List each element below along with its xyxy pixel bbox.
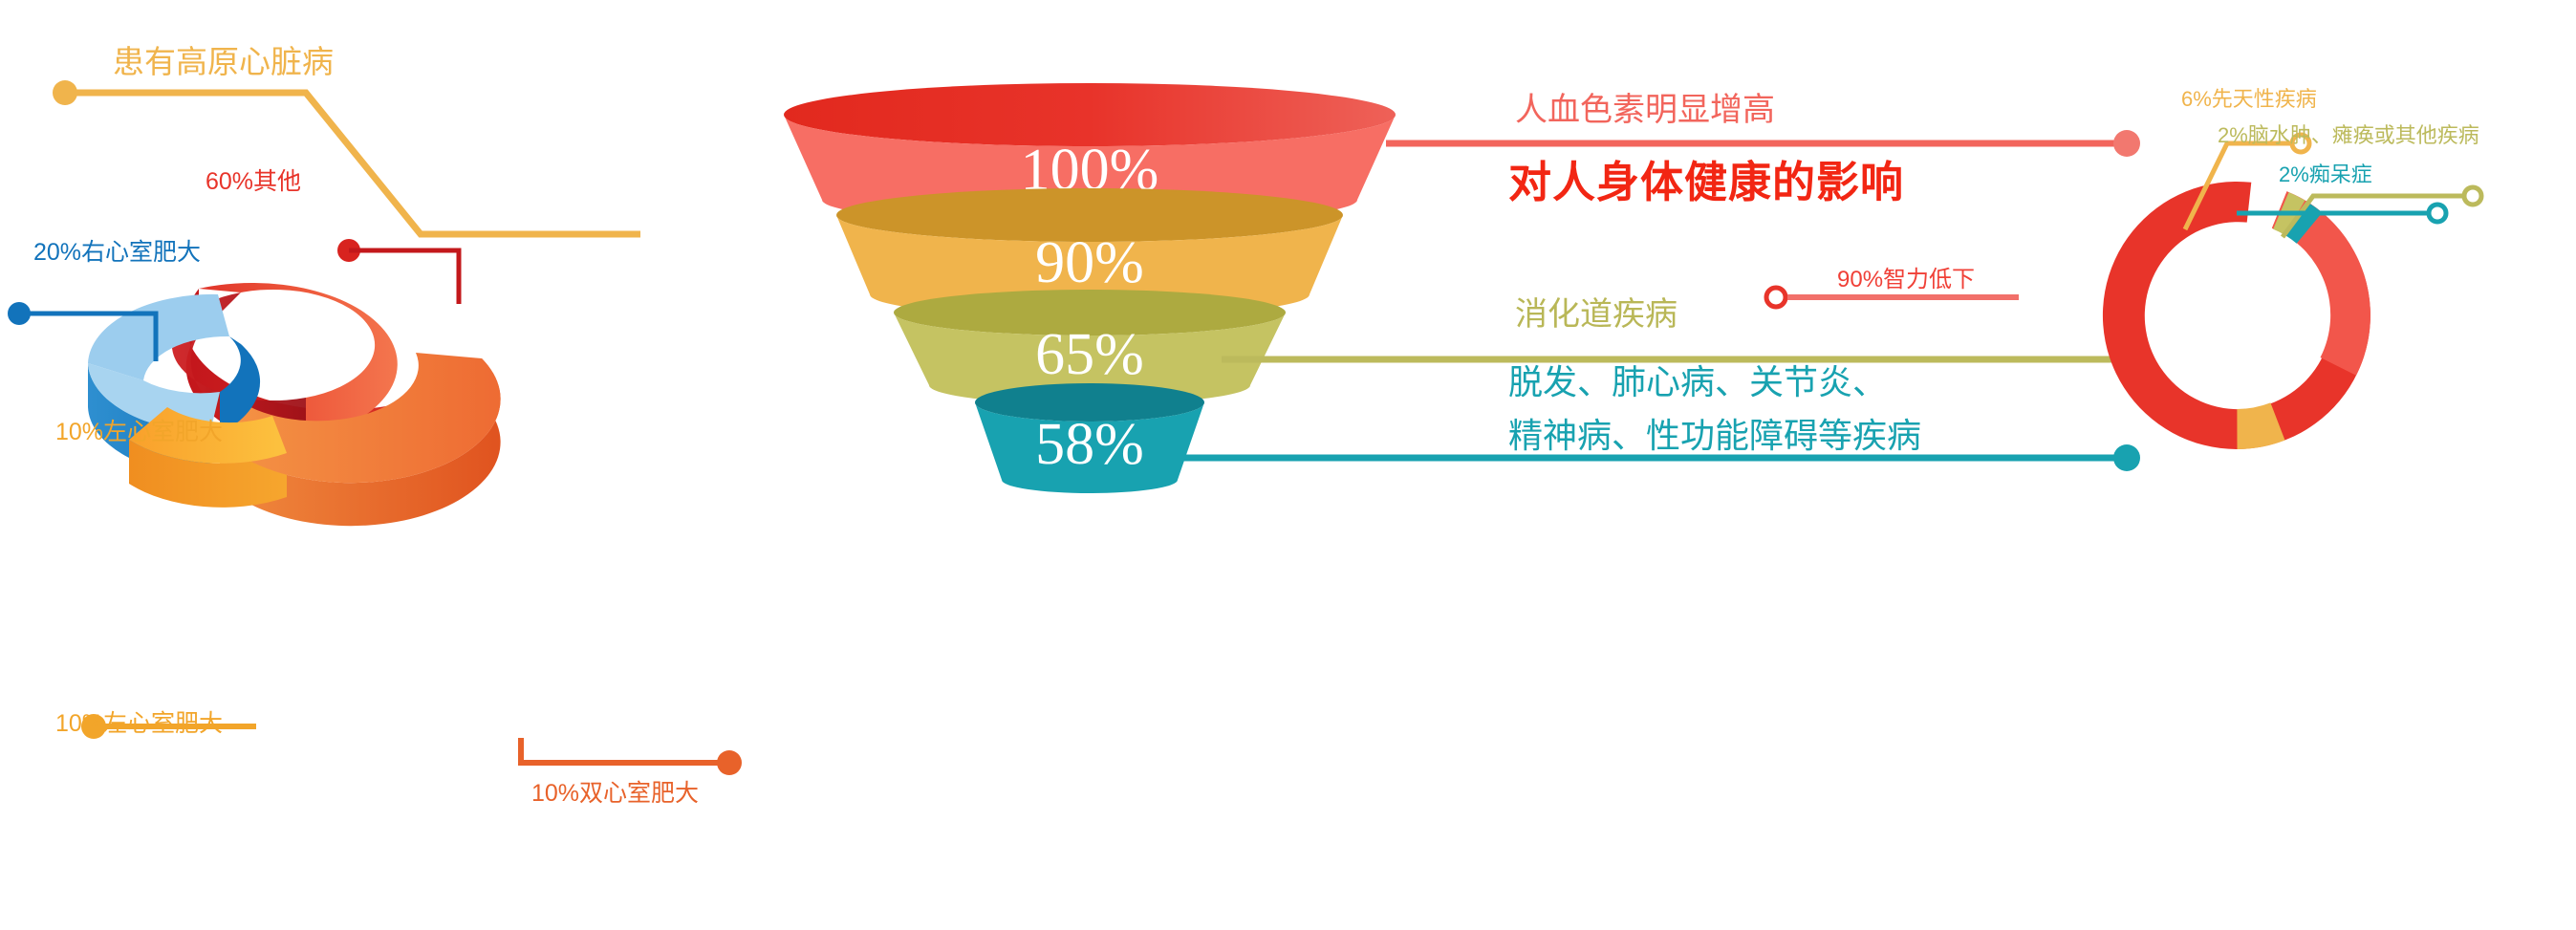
connector-dot-low-intelligence — [1766, 288, 1786, 307]
funnel-stage-90-value: 90% — [1035, 230, 1144, 295]
connector-funnel-58 — [1166, 435, 2151, 492]
funnel-stage-65-value: 65% — [1035, 322, 1144, 387]
funnel-stage-100-cap — [784, 83, 1396, 146]
connector-dot-dementia — [2429, 205, 2446, 222]
connector-dementia — [2218, 177, 2466, 244]
left-label-left-ventricle: 10%左心室肥大 — [55, 421, 223, 444]
infographic-canvas: 患有高原心脏病 — [0, 0, 2576, 930]
left-label-left-ventricle-text: 10%左心室肥大 — [55, 712, 223, 736]
funnel-heading: 对人身体健康的影响 — [1508, 161, 1904, 204]
connector-dot-edema — [2464, 187, 2481, 205]
connector-line-blue — [19, 314, 156, 361]
connector-line-orangered — [521, 738, 729, 763]
connector-line-red — [349, 250, 459, 304]
connector-right-ventricle — [0, 258, 287, 382]
funnel-label-digestive: 消化道疾病 — [1515, 298, 1678, 331]
funnel-stage-58-value: 58% — [1035, 412, 1144, 477]
funnel-label-other-line1: 脱发、肺心病、关节炎、 — [1508, 365, 1887, 400]
left-label-both-ventricle: 10%双心室肥大 — [531, 782, 699, 806]
